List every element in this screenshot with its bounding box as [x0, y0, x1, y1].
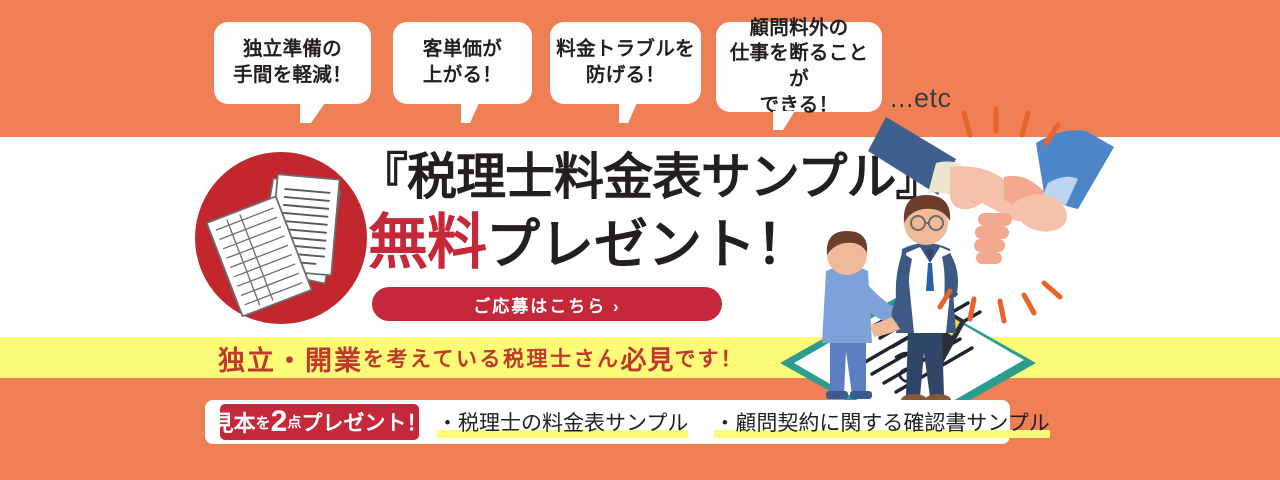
sample-item-1: ・税理士の料金表サンプル — [437, 407, 688, 438]
benefit-bubble-1-line-1: 独立準備の — [243, 38, 342, 60]
samples-list: ・税理士の料金表サンプル ・顧問契約に関する確認書サンプル — [437, 402, 1050, 442]
benefit-bubble-3-line-1: 料金トラブルを — [556, 38, 695, 60]
benefit-bubble-2: 客単価が 上がる！ — [393, 22, 532, 104]
badge-text-4: プレゼント！ — [301, 407, 427, 437]
documents-icon — [195, 152, 367, 324]
benefit-bubble-2-line-2: 上がる！ — [423, 64, 502, 86]
benefit-bubble-1-line-2: 手間を軽減！ — [233, 64, 352, 86]
yellow-band-emphasis-1: 独立・開業 — [218, 339, 363, 378]
badge-text-3: 点 — [287, 412, 301, 432]
handshake-illustration — [760, 95, 1130, 425]
benefit-bubble-4-line-2: 仕事を断ることが — [730, 42, 869, 90]
badge-text-2: を — [256, 412, 271, 433]
yellow-band-text-2: です！ — [674, 343, 743, 373]
yellow-band-text-1: を考えている税理士さん — [363, 343, 620, 373]
benefit-bubble-1: 独立準備の 手間を軽減！ — [214, 22, 371, 104]
apply-button[interactable]: ご応募はこちら › — [372, 287, 722, 321]
headline-free-emphasis: 無料 — [368, 209, 486, 276]
promo-banner: 独立準備の 手間を軽減！ 客単価が 上がる！ 料金トラブルを 防げる！ 顧問料外… — [0, 0, 1280, 480]
yellow-band-message: 独立・開業を考えている税理士さん必見です！ — [218, 338, 743, 378]
sample-item-2: ・顧問契約に関する確認書サンプル — [714, 407, 1049, 438]
benefit-bubble-2-line-1: 客単価が — [423, 38, 502, 60]
yellow-band-emphasis-2: 必見 — [620, 340, 674, 377]
badge-text-1: 見本 — [212, 406, 256, 438]
benefit-bubble-3-line-2: 防げる！ — [586, 64, 665, 86]
badge-count: 2 — [271, 407, 288, 437]
samples-badge: 見本を2点プレゼント！ — [218, 402, 421, 442]
benefit-bubble-4-line-1: 顧問料外の — [749, 17, 848, 39]
headline-line-2: 無料プレゼント！ — [368, 212, 810, 274]
benefit-bubble-3: 料金トラブルを 防げる！ — [550, 22, 701, 104]
